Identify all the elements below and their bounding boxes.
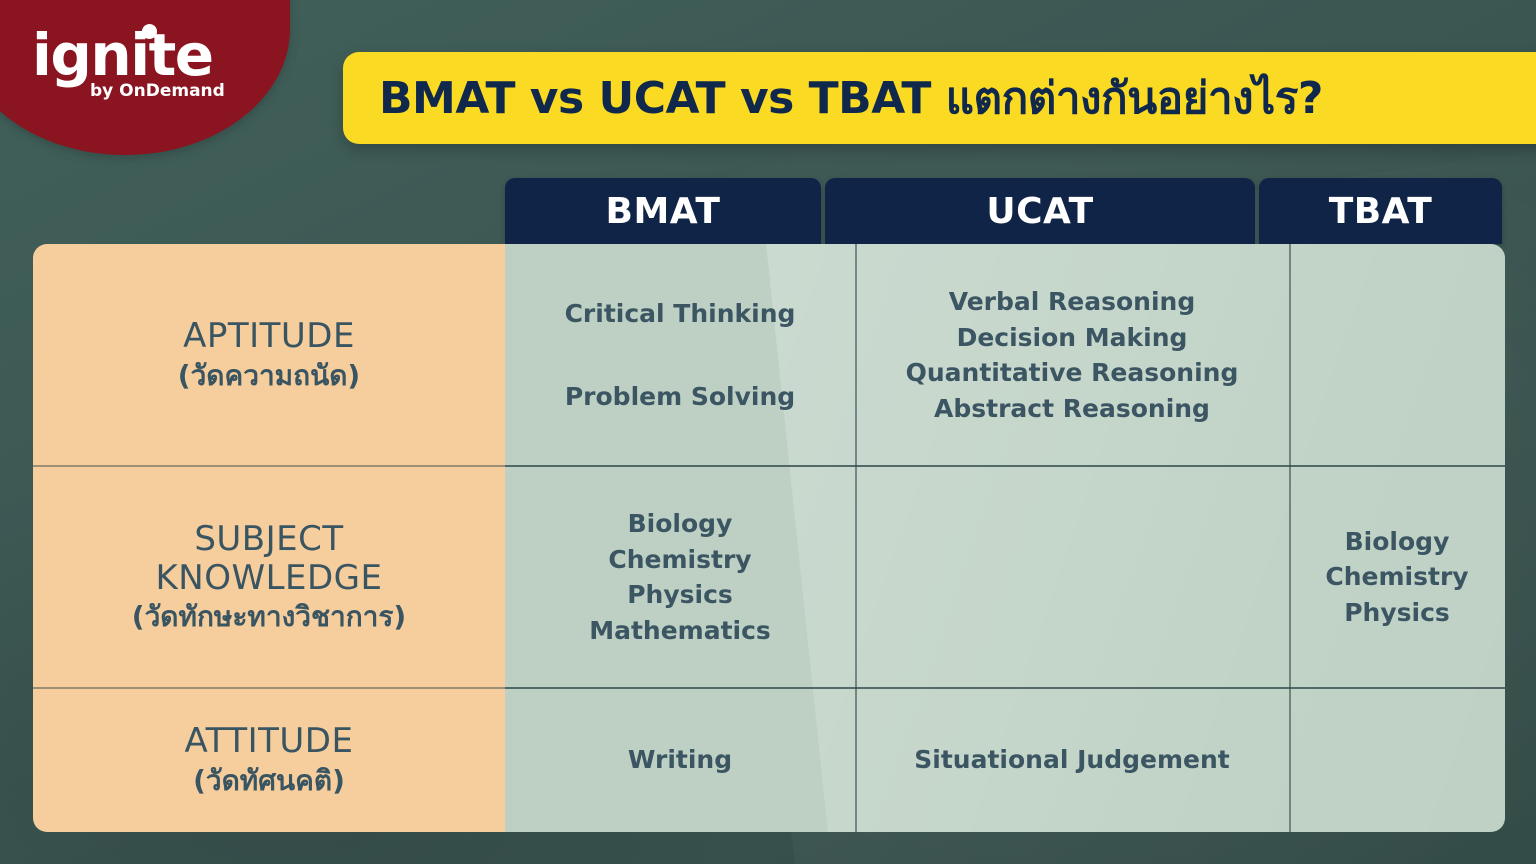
column-header-tbat: TBAT	[1259, 178, 1502, 244]
row-label-column: APTITUDE (วัดความถนัด) SUBJECT KNOWLEDGE…	[33, 244, 505, 832]
cell-aptitude-tbat	[1289, 244, 1505, 466]
brand-logo-wordmark: ignite	[32, 28, 213, 83]
cell-item: Writing	[628, 742, 732, 778]
comparison-table: BMAT UCAT TBAT APTITUDE (วัดความถนัด) SU…	[33, 178, 1505, 832]
row-divider-1-full	[33, 465, 1505, 467]
cell-item: Problem Solving	[565, 379, 795, 415]
cell-subject-knowledge-ucat	[855, 466, 1289, 688]
row-label-attitude-en: ATTITUDE	[185, 722, 354, 760]
row-label-subject-knowledge: SUBJECT KNOWLEDGE (วัดทักษะทางวิชาการ)	[33, 466, 505, 688]
brand-logo: ignite by OnDemand	[32, 28, 242, 101]
title-banner: BMAT vs UCAT vs TBAT แตกต่างกันอย่างไร?	[343, 52, 1536, 144]
row-label-subject-knowledge-en-line1: SUBJECT	[194, 520, 343, 558]
row-label-attitude-th: (วัดทัศนคติ)	[193, 763, 345, 798]
cell-item: Biology	[628, 506, 733, 542]
page-title: BMAT vs UCAT vs TBAT แตกต่างกันอย่างไร?	[379, 63, 1323, 133]
cell-item: Biology	[1345, 524, 1450, 560]
cell-attitude-ucat: Situational Judgement	[855, 688, 1289, 832]
cell-item: Physics	[1344, 595, 1450, 631]
cell-item: Chemistry	[1325, 559, 1468, 595]
column-header-tbat-label: TBAT	[1329, 191, 1433, 232]
table-data-area: Critical Thinking Problem Solving Verbal…	[505, 244, 1505, 832]
cell-item: Chemistry	[608, 542, 751, 578]
row-label-aptitude-th: (วัดความถนัด)	[178, 358, 360, 393]
row-label-attitude: ATTITUDE (วัดทัศนคติ)	[33, 688, 505, 832]
column-header-ucat-label: UCAT	[986, 191, 1093, 232]
cell-subject-knowledge-tbat: Biology Chemistry Physics	[1289, 466, 1505, 688]
cell-attitude-bmat: Writing	[505, 688, 855, 832]
table-body: APTITUDE (วัดความถนัด) SUBJECT KNOWLEDGE…	[33, 244, 1505, 832]
row-label-subject-knowledge-th: (วัดทักษะทางวิชาการ)	[132, 599, 406, 634]
cell-item: Quantitative Reasoning	[906, 355, 1239, 391]
cell-aptitude-ucat: Verbal Reasoning Decision Making Quantit…	[855, 244, 1289, 466]
cell-subject-knowledge-bmat: Biology Chemistry Physics Mathematics	[505, 466, 855, 688]
cell-item: Critical Thinking	[565, 296, 796, 332]
cell-attitude-tbat	[1289, 688, 1505, 832]
cell-aptitude-bmat: Critical Thinking Problem Solving	[505, 244, 855, 466]
column-divider-ucat-tbat	[1289, 244, 1291, 832]
row-label-aptitude-en: APTITUDE	[183, 317, 355, 355]
column-divider-bmat-ucat	[855, 244, 857, 832]
cell-item: Physics	[627, 577, 733, 613]
cell-item: Abstract Reasoning	[934, 391, 1210, 427]
row-divider-2-full	[33, 687, 1505, 689]
table-header-row: BMAT UCAT TBAT	[33, 178, 1505, 244]
cell-item: Situational Judgement	[914, 742, 1229, 778]
cell-item: Mathematics	[589, 613, 771, 649]
cell-item: Verbal Reasoning	[949, 284, 1196, 320]
column-header-bmat: BMAT	[505, 178, 821, 244]
column-header-bmat-label: BMAT	[606, 191, 721, 232]
cell-item: Decision Making	[957, 320, 1188, 356]
column-header-ucat: UCAT	[825, 178, 1255, 244]
row-label-subject-knowledge-en-line2: KNOWLEDGE	[155, 559, 382, 597]
row-label-aptitude: APTITUDE (วัดความถนัด)	[33, 244, 505, 466]
